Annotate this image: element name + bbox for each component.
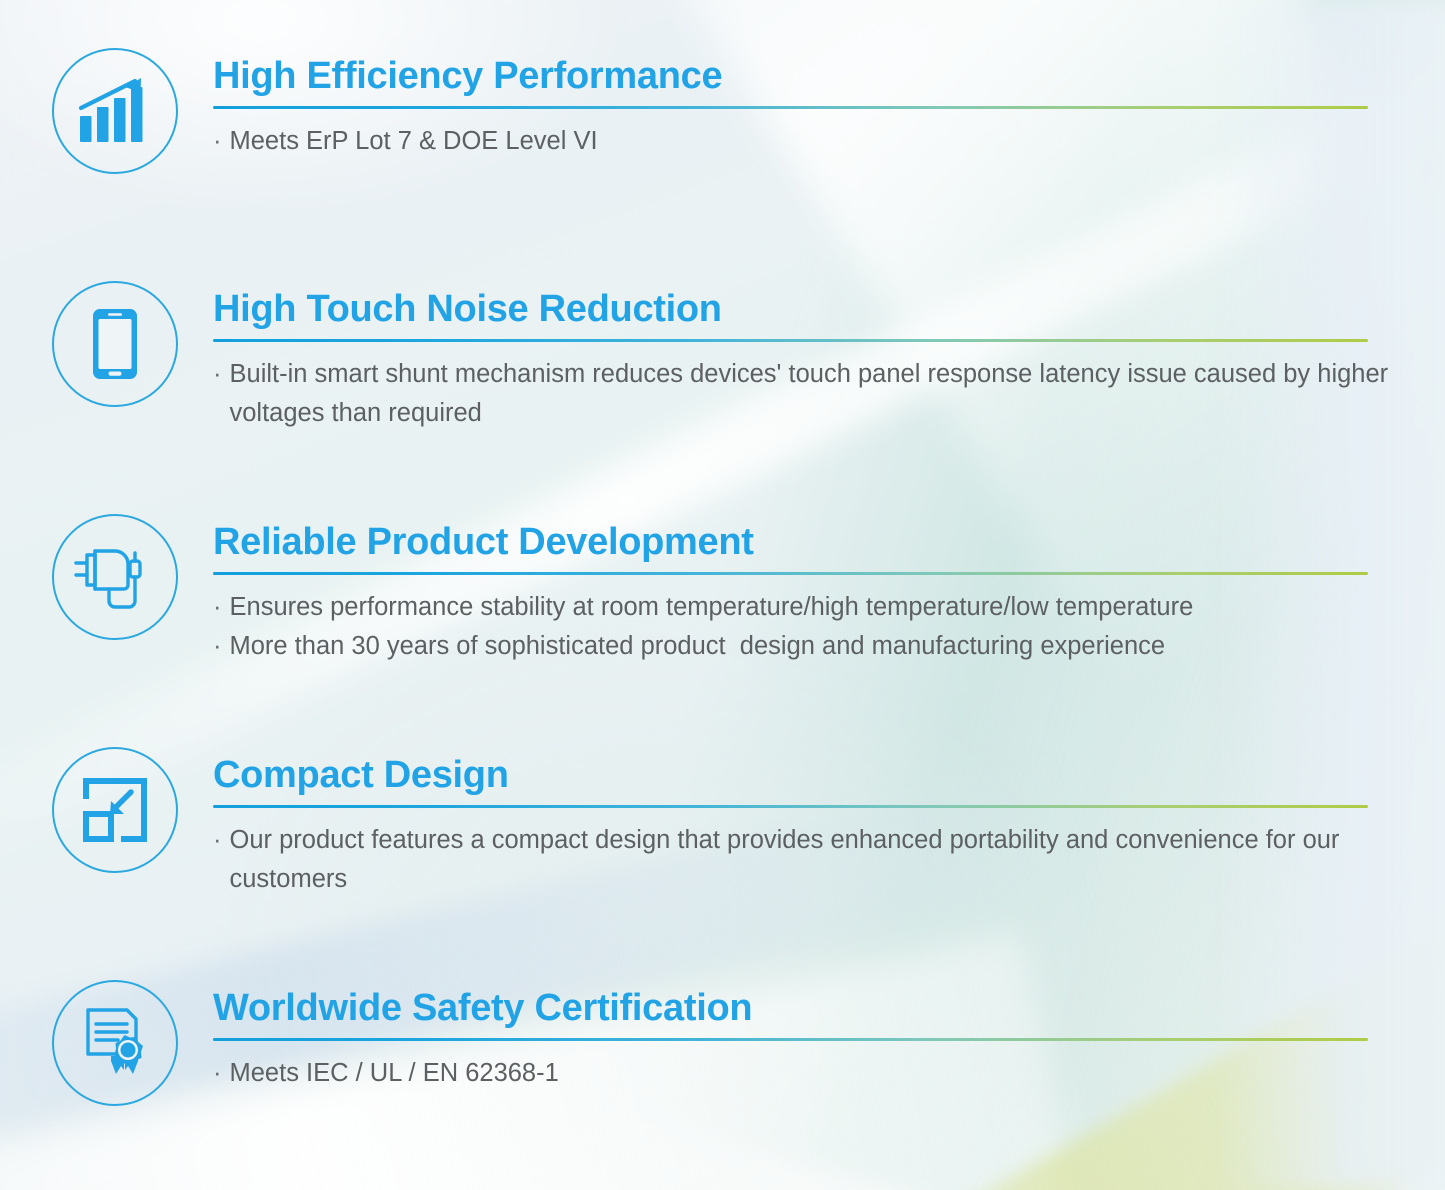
feature-divider [213, 572, 1368, 575]
feature-item-compact-design: Compact Design · Our product features a … [52, 747, 1445, 899]
feature-title: High Efficiency Performance [213, 54, 1445, 98]
feature-list: High Efficiency Performance · Meets ErP … [0, 0, 1445, 1190]
bullet-marker: · [213, 627, 222, 666]
list-item: · Meets IEC / UL / EN 62368-1 [213, 1054, 1445, 1093]
compact-resize-icon [52, 747, 178, 873]
bullet-text: Meets IEC / UL / EN 62368-1 [230, 1054, 1445, 1093]
feature-body: Worldwide Safety Certification · Meets I… [213, 980, 1445, 1093]
feature-body: High Efficiency Performance · Meets ErP … [213, 48, 1445, 161]
bullet-text: Our product features a compact design th… [230, 821, 1445, 899]
list-item: · Our product features a compact design … [213, 821, 1445, 899]
feature-highlights-page: High Efficiency Performance · Meets ErP … [0, 0, 1445, 1190]
bullet-marker: · [213, 588, 222, 627]
bullet-marker: · [213, 1054, 222, 1093]
bar-chart-growth-icon [52, 48, 178, 174]
feature-title: High Touch Noise Reduction [213, 287, 1445, 331]
bullet-text: Built-in smart shunt mechanism reduces d… [230, 355, 1445, 433]
list-item: · Built-in smart shunt mechanism reduces… [213, 355, 1445, 433]
feature-item-worldwide-safety-certification: Worldwide Safety Certification · Meets I… [52, 980, 1445, 1106]
feature-title: Compact Design [213, 753, 1445, 797]
feature-bullets: · Meets IEC / UL / EN 62368-1 [213, 1054, 1445, 1093]
feature-divider [213, 1038, 1368, 1041]
feature-bullets: · Our product features a compact design … [213, 821, 1445, 899]
bullet-marker: · [213, 821, 222, 860]
feature-body: High Touch Noise Reduction · Built-in sm… [213, 281, 1445, 433]
power-adapter-icon [52, 514, 178, 640]
bullet-text: More than 30 years of sophisticated prod… [230, 627, 1445, 666]
bullet-text: Meets ErP Lot 7 & DOE Level VI [230, 122, 1445, 161]
feature-item-reliable-product-development: Reliable Product Development · Ensures p… [52, 514, 1445, 666]
feature-bullets: · Ensures performance stability at room … [213, 588, 1445, 666]
smartphone-icon [52, 281, 178, 407]
feature-title: Reliable Product Development [213, 520, 1445, 564]
bullet-text: Ensures performance stability at room te… [230, 588, 1445, 627]
feature-divider [213, 106, 1368, 109]
list-item: · Ensures performance stability at room … [213, 588, 1445, 627]
feature-bullets: · Built-in smart shunt mechanism reduces… [213, 355, 1445, 433]
bullet-marker: · [213, 122, 222, 161]
feature-divider [213, 339, 1368, 342]
feature-body: Compact Design · Our product features a … [213, 747, 1445, 899]
list-item: · More than 30 years of sophisticated pr… [213, 627, 1445, 666]
feature-bullets: · Meets ErP Lot 7 & DOE Level VI [213, 122, 1445, 161]
feature-item-high-efficiency-performance: High Efficiency Performance · Meets ErP … [52, 48, 1445, 174]
list-item: · Meets ErP Lot 7 & DOE Level VI [213, 122, 1445, 161]
feature-divider [213, 805, 1368, 808]
feature-body: Reliable Product Development · Ensures p… [213, 514, 1445, 666]
certificate-seal-icon [52, 980, 178, 1106]
bullet-marker: · [213, 355, 222, 394]
feature-item-high-touch-noise-reduction: High Touch Noise Reduction · Built-in sm… [52, 281, 1445, 433]
feature-title: Worldwide Safety Certification [213, 986, 1445, 1030]
